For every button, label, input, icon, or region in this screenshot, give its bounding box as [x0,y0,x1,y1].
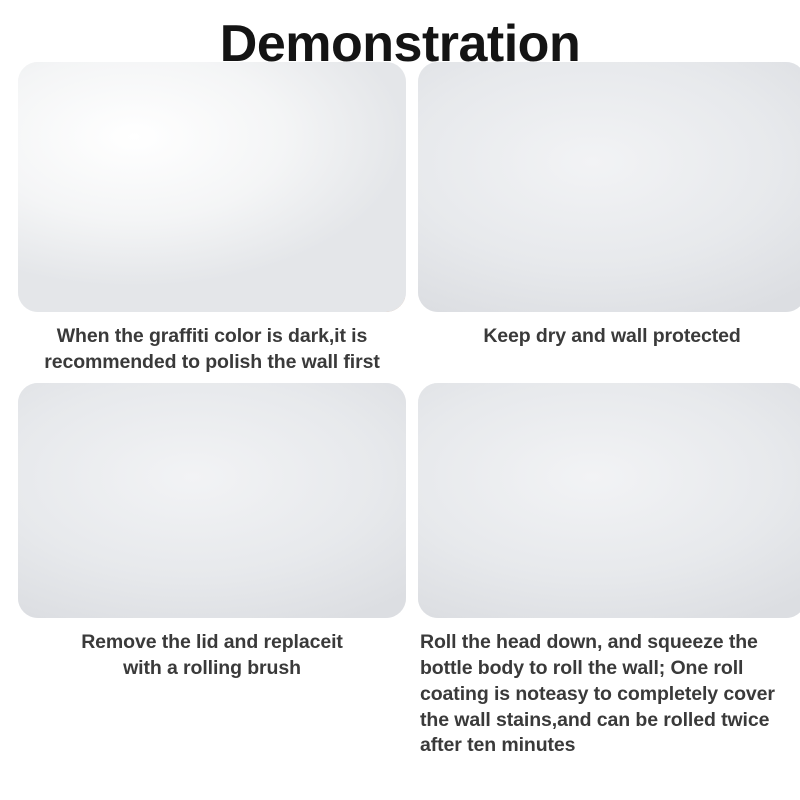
panel-replace-lid: 滚筒漆 墙面 修补 无刺激味 · 环保易施工 · 快干防潮 · 省时省力 ROL… [18,375,406,759]
wall-background [18,383,406,618]
caption-line: with a rolling brush [22,656,402,682]
caption-polish-wall: When the graffiti color is dark,it is re… [18,312,406,375]
image-paint-bottle-and-roller-brush-head: 滚筒漆 墙面 修补 无刺激味 · 环保易施工 · 快干防潮 · 省时省力 ROL… [18,383,406,618]
panel-polish-wall: QBTAO2C LED S 8 4S HS O 1 [18,62,406,375]
caption-roll-wall: Roll the head down, and squeeze the bott… [418,618,800,759]
image-hand-wiping-wall-with-yellow-cloth [418,62,800,312]
wall-background [418,62,800,312]
caption-line: bottle body to roll the wall; One roll [420,656,800,682]
caption-replace-lid: Remove the lid and replaceit with a roll… [18,618,406,681]
demonstration-page: Demonstration [0,0,800,800]
caption-line: Remove the lid and replaceit [22,630,402,656]
image-hand-sanding-block-on-graffiti-wall: QBTAO2C LED S 8 4S HS O 1 [18,62,406,312]
wall-background [18,62,406,312]
caption-keep-dry: Keep dry and wall protected [418,312,800,350]
caption-line: coating is noteasy to completely cover [420,682,800,708]
caption-line: the wall stains,and can be rolled twice [420,708,800,734]
caption-line: recommended to polish the wall first [22,350,402,376]
caption-line: When the graffiti color is dark,it is [22,324,402,350]
panel-roll-wall: Roll the head down, and squeeze the bott… [418,375,800,759]
image-orange-roller-head-on-bottle-against-wall [418,383,800,618]
page-title: Demonstration [0,0,800,62]
demonstration-grid: QBTAO2C LED S 8 4S HS O 1 [0,62,800,759]
wall-background [418,383,800,618]
panel-keep-dry: Keep dry and wall protected [418,62,800,375]
caption-line: Keep dry and wall protected [422,324,800,350]
caption-line: Roll the head down, and squeeze the [420,630,800,656]
caption-line: after ten minutes [420,733,800,759]
